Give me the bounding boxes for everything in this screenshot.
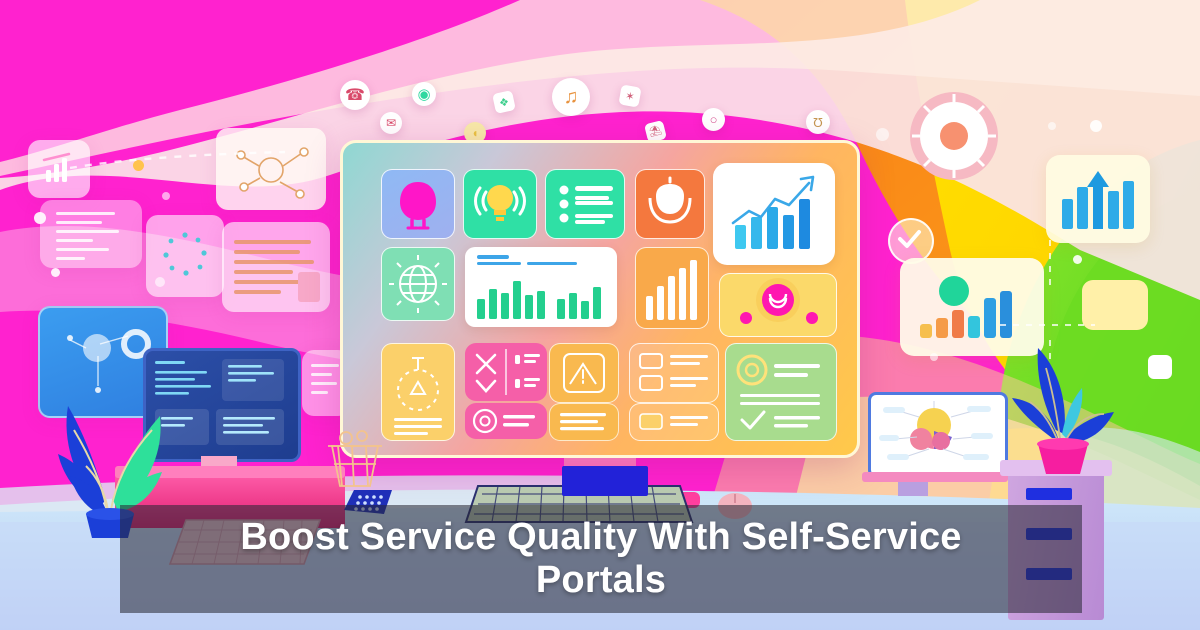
plant-right [1000, 310, 1120, 478]
laptop [862, 392, 1008, 496]
dial-gauge [908, 90, 1000, 182]
list-blocks-icon [630, 344, 718, 402]
green-bar-chart-icon [465, 247, 617, 327]
decor-dot [876, 128, 889, 141]
desktop-monitor [340, 140, 860, 458]
laptop-screen [868, 392, 1008, 478]
white-bar-chart-icon [636, 248, 708, 328]
text-lines-icon [550, 404, 618, 440]
drawer-handle [1026, 488, 1072, 500]
decor-dot [51, 268, 60, 277]
tile-list-blocks[interactable] [629, 343, 719, 403]
trend-up-chart-icon [713, 163, 835, 265]
tile-idea-bulb[interactable] [463, 169, 537, 239]
warning-graph-icon [550, 344, 618, 402]
photo-icon: ❖ [492, 90, 516, 114]
status-circle-lines-icon [465, 403, 547, 439]
email-icon: ✉ [380, 112, 402, 134]
tile-alert-dial[interactable] [381, 343, 455, 441]
approved-check-icon [726, 344, 836, 440]
note-lines-icon [311, 364, 341, 400]
tile-cloud-shape[interactable] [635, 169, 705, 239]
alert-dial-icon [382, 344, 454, 440]
phone-call-icon: ☎ [340, 80, 370, 110]
banner-image: ☎ ✉ ◉ ❖ ◖ ♫ ✶ ⛱ ○ Ʊ [0, 0, 1200, 630]
tile-text-lines-small[interactable] [549, 403, 619, 441]
gauge-dial-icon [908, 90, 1000, 182]
ring-icon: ◉ [412, 82, 436, 106]
text-lines-card [40, 200, 142, 268]
bullet-list-icon [546, 170, 624, 238]
tile-warning-graph[interactable] [549, 343, 619, 403]
laptop-base [862, 472, 1008, 482]
decor-dot [34, 212, 46, 224]
tile-white-bars[interactable] [635, 247, 709, 329]
decor-dot [1090, 120, 1102, 132]
decor-dot [930, 353, 938, 361]
document-thumb [298, 272, 320, 302]
monitor-bezel [340, 140, 860, 458]
smiley-badge-icon [720, 274, 836, 336]
gift-icon: ✶ [618, 84, 641, 107]
tile-smiley-badge[interactable] [719, 273, 837, 337]
circle-o-icon: ○ [702, 108, 725, 131]
globe-target-icon [382, 248, 454, 320]
mindmap-icon [871, 395, 999, 469]
shuffle-arrows-icon [465, 343, 547, 401]
cocktail-icon: Ʊ [806, 110, 830, 134]
lightbulb-icon [464, 170, 536, 238]
tile-chick-avatar[interactable] [381, 169, 455, 239]
monitor-stand-block [562, 466, 648, 496]
decor-dot [1048, 122, 1056, 130]
page-title: Boost Service Quality With Self-Service … [171, 516, 1031, 601]
tile-green-barchart[interactable] [465, 247, 617, 327]
title-overlay: Boost Service Quality With Self-Service … [120, 505, 1082, 613]
tile-globe-target[interactable] [381, 247, 455, 321]
text-lines-icon [56, 212, 128, 266]
tile-checklist[interactable] [545, 169, 625, 239]
tile-list-blocks-lower[interactable] [629, 403, 719, 441]
cloud-shape-icon [636, 170, 704, 238]
tile-approved-card[interactable] [725, 343, 837, 441]
tile-shuffle-pink[interactable] [465, 343, 547, 401]
tile-shuffle-pink-lower[interactable] [465, 403, 547, 439]
chick-avatar-icon [382, 170, 454, 238]
laptop-stand [898, 482, 928, 496]
monitor-screen [353, 153, 847, 445]
dashed-connectors-left [70, 146, 320, 186]
music-note-icon: ♫ [552, 78, 590, 116]
decor-dot [1073, 255, 1082, 264]
decor-dot [162, 192, 170, 200]
media-block-icon [630, 404, 718, 440]
decor-dot [155, 277, 165, 287]
document-card [222, 222, 330, 312]
tile-trend-chart[interactable] [713, 163, 835, 265]
